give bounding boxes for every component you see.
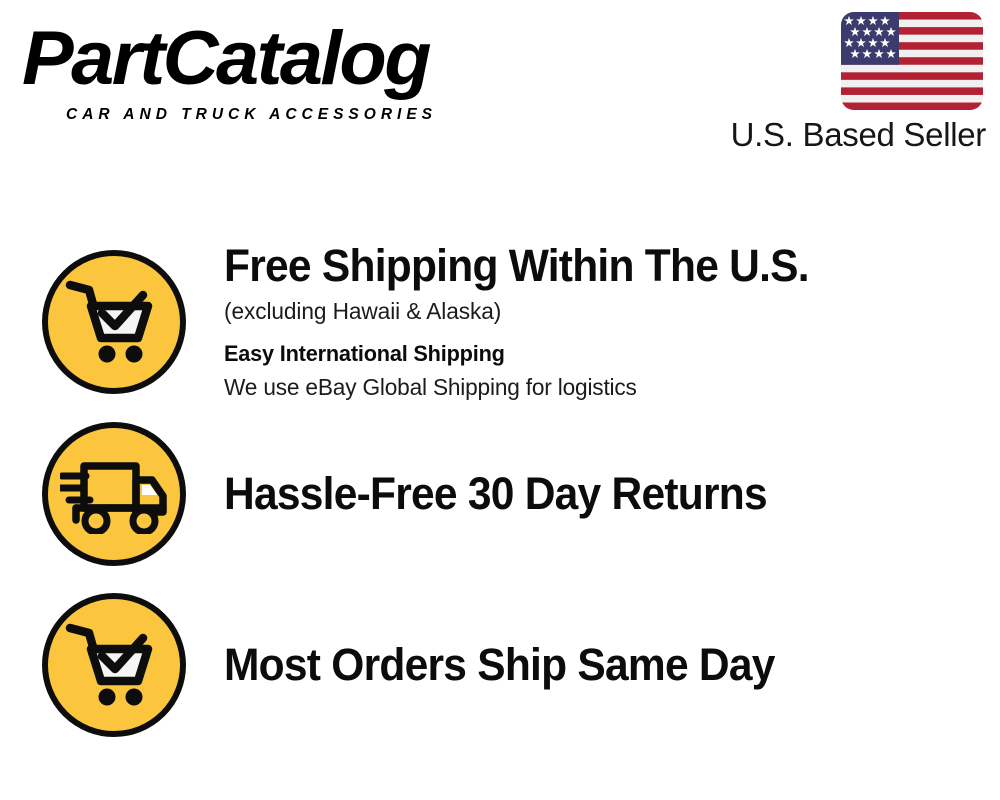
brand-wordmark: PartCatalog	[22, 16, 429, 102]
feature-headline: Most Orders Ship Same Day	[224, 639, 938, 691]
feature-text-block: Free Shipping Within The U.S. (excluding…	[224, 240, 1000, 404]
feature-note: (excluding Hawaii & Alaska)	[224, 294, 954, 328]
feature-text-block: Hassle-Free 30 Day Returns	[224, 468, 1000, 520]
page-header: PartCatalog CAR AND TRUCK ACCESSORIES	[0, 0, 1000, 180]
feature-list: Free Shipping Within The U.S. (excluding…	[0, 180, 1000, 800]
feature-row: Hassle-Free 30 Day Returns	[0, 419, 1000, 569]
feature-sub-heading: Easy International Shipping	[224, 337, 954, 371]
brand-tagline: CAR AND TRUCK ACCESSORIES	[66, 106, 437, 124]
feature-text-block: Most Orders Ship Same Day	[224, 639, 1000, 691]
seller-location-label: U.S. Based Seller	[731, 115, 986, 155]
feature-sub-text: We use eBay Global Shipping for logistic…	[224, 371, 954, 404]
feature-icon-badge	[42, 422, 186, 566]
feature-row: Most Orders Ship Same Day	[0, 590, 1000, 740]
feature-icon-badge	[42, 593, 186, 737]
shopping-cart-check-icon	[62, 617, 166, 713]
feature-headline: Free Shipping Within The U.S.	[224, 240, 938, 292]
delivery-truck-icon	[60, 454, 168, 534]
us-flag-icon	[841, 12, 983, 110]
brand-logo[interactable]: PartCatalog CAR AND TRUCK ACCESSORIES	[22, 22, 492, 114]
feature-headline: Hassle-Free 30 Day Returns	[224, 468, 938, 520]
feature-row: Free Shipping Within The U.S. (excluding…	[0, 247, 1000, 397]
feature-icon-badge	[42, 250, 186, 394]
shopping-cart-check-icon	[62, 274, 166, 370]
